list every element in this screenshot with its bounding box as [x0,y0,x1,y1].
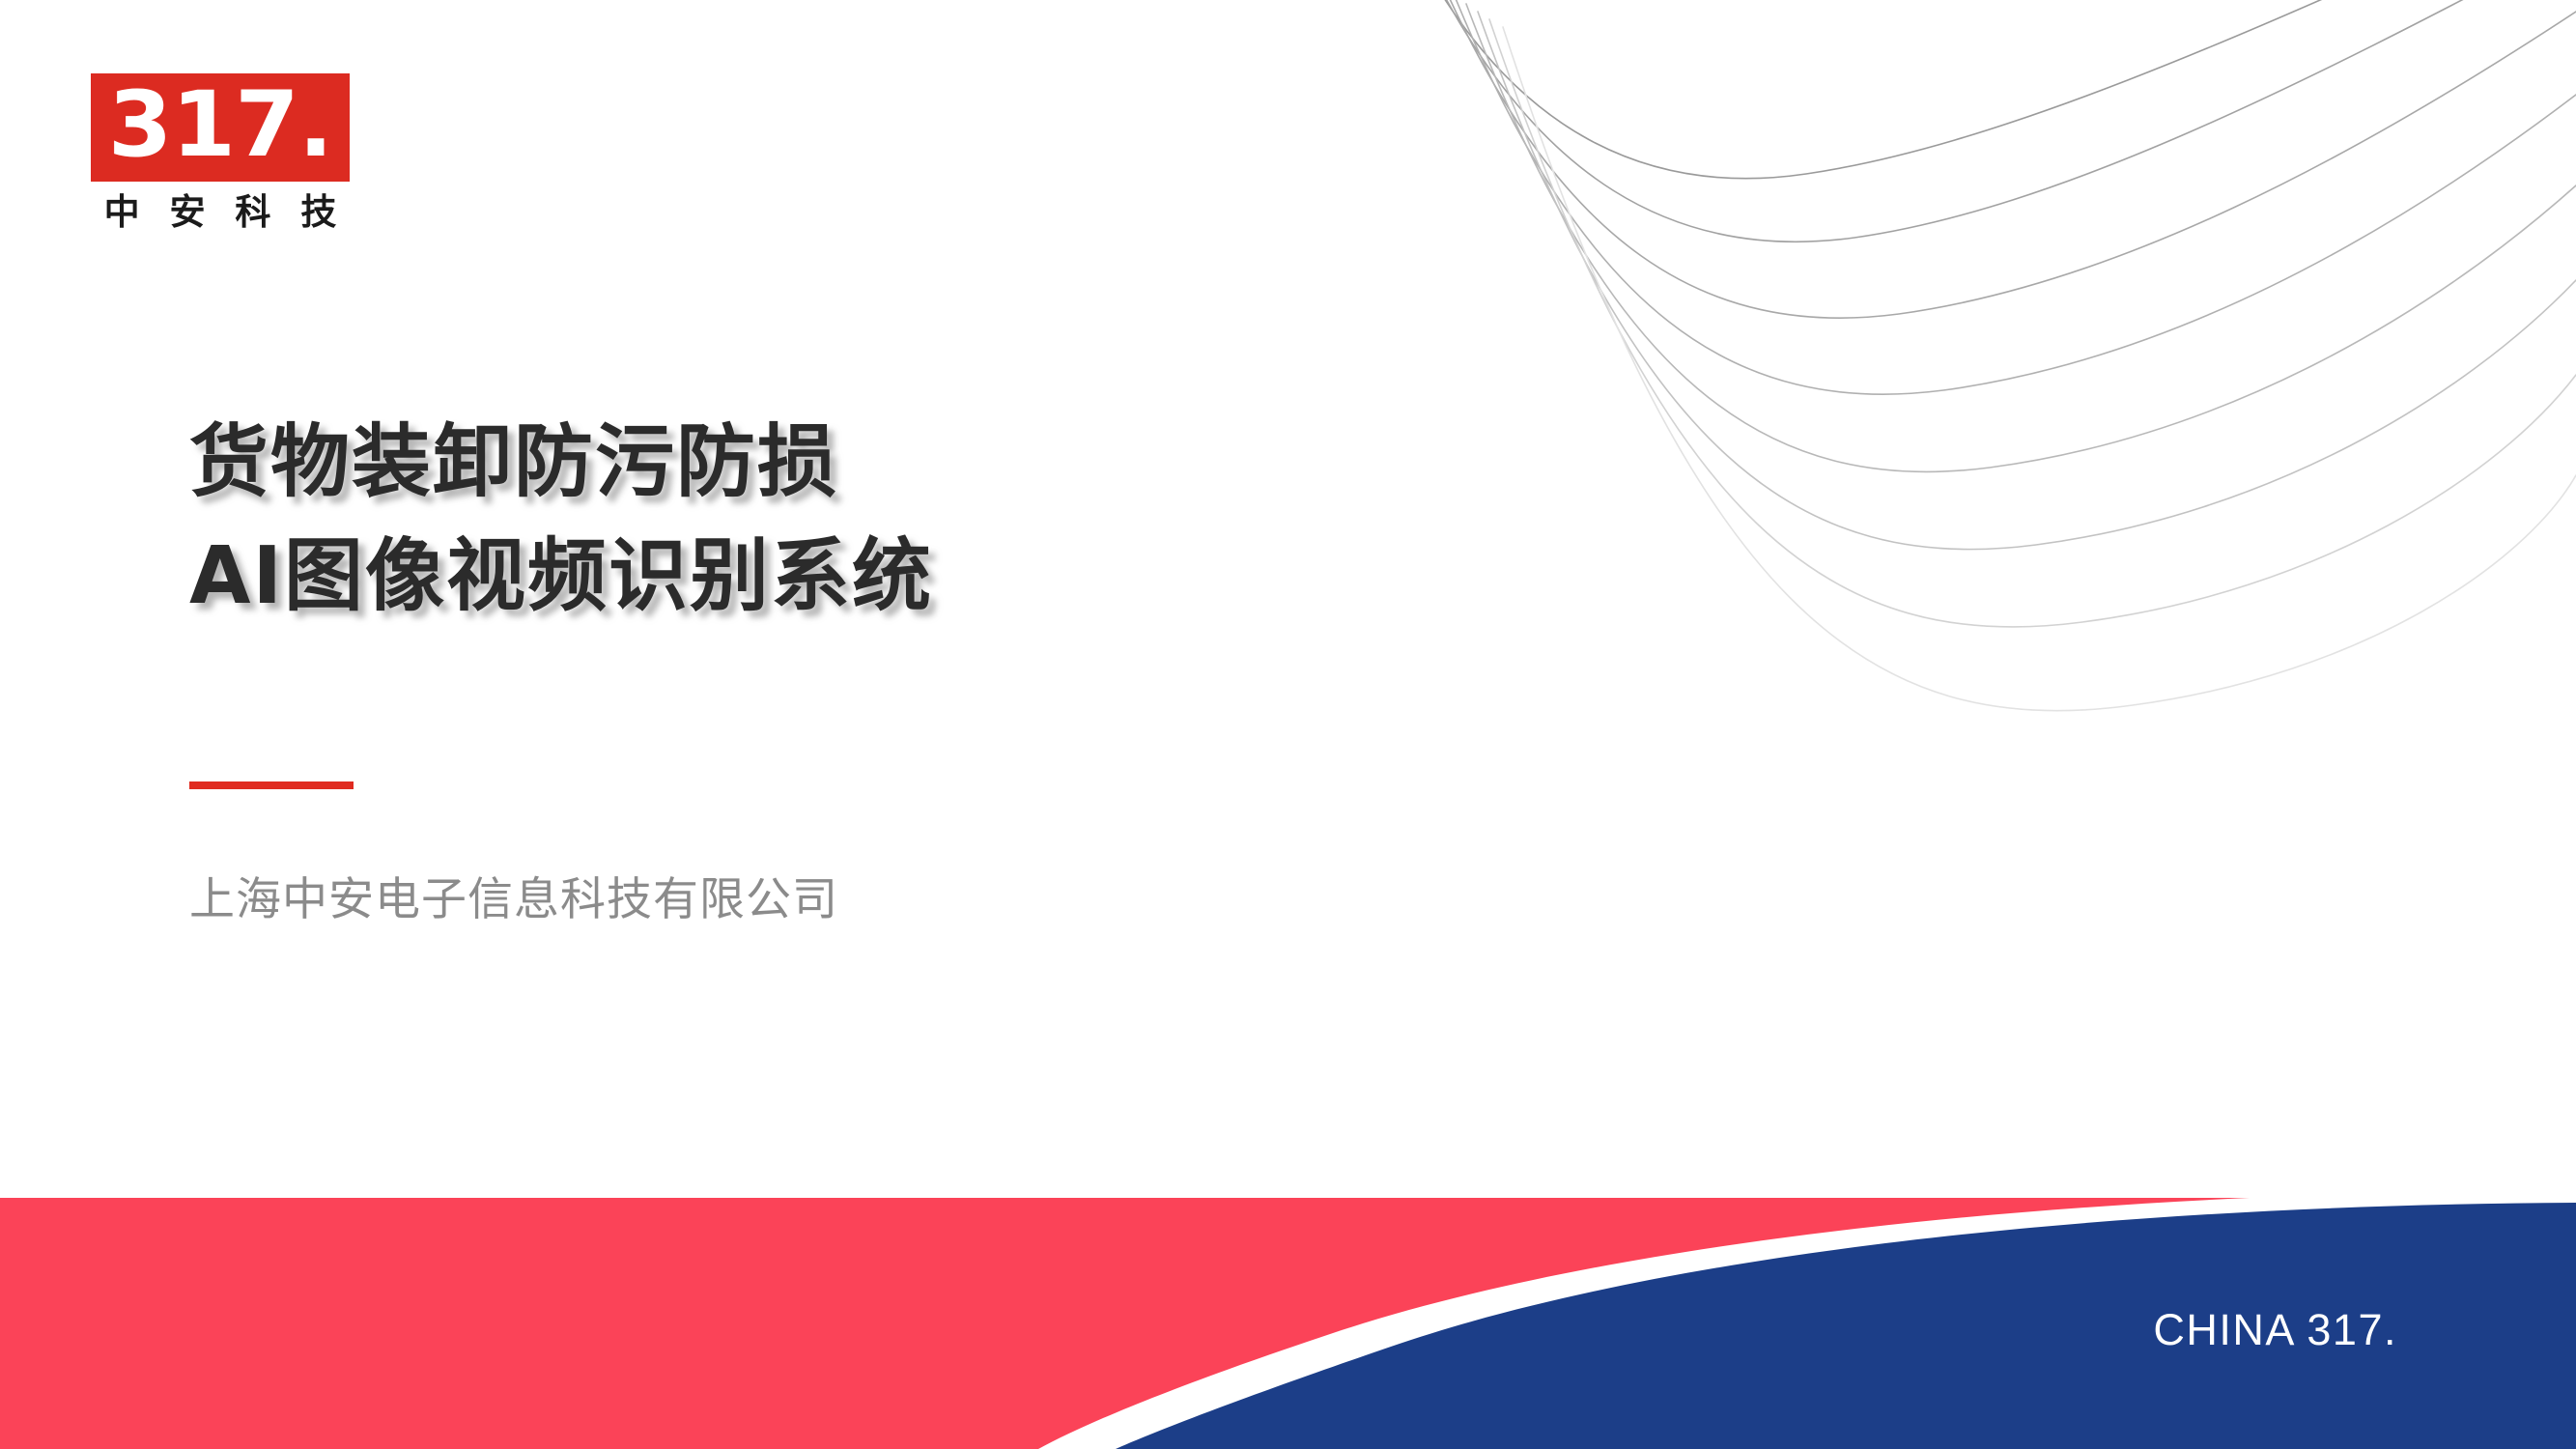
page-title-line-2: AI图像视频识别系统 [189,520,933,634]
deco-curve-7 [1489,19,2576,627]
deco-curve-2 [1435,0,2576,241]
page-title: 货物装卸防污防损 AI图像视频识别系统 [189,406,933,634]
company-name: 上海中安电子信息科技有限公司 [189,872,838,928]
footer-brand-text: CHINA 317. [2153,1306,2397,1354]
deco-curve-8 [1503,27,2576,711]
footer-blue-band [0,1159,2576,1449]
deco-curve-6 [1478,12,2576,550]
logo-subtitle: 中 安 科 技 [91,193,350,232]
deco-curve-1 [1428,0,2576,179]
title-divider-rule [189,781,354,789]
logo-badge: 317. [91,73,350,182]
deco-curve-4 [1455,0,2576,394]
curved-line-flourish-decoration [1352,0,2576,802]
page-title-line-1: 货物装卸防污防损 [189,406,933,520]
logo-badge-text: 317. [108,80,332,171]
deco-curve-5 [1466,4,2576,471]
brand-logo: 317. 中 安 科 技 [91,73,350,232]
deco-curve-3 [1445,0,2576,318]
slide-canvas: 317. 中 安 科 技 货物装卸防污防损 AI图像视频识别系统 上海中安电子信… [0,0,2576,1449]
